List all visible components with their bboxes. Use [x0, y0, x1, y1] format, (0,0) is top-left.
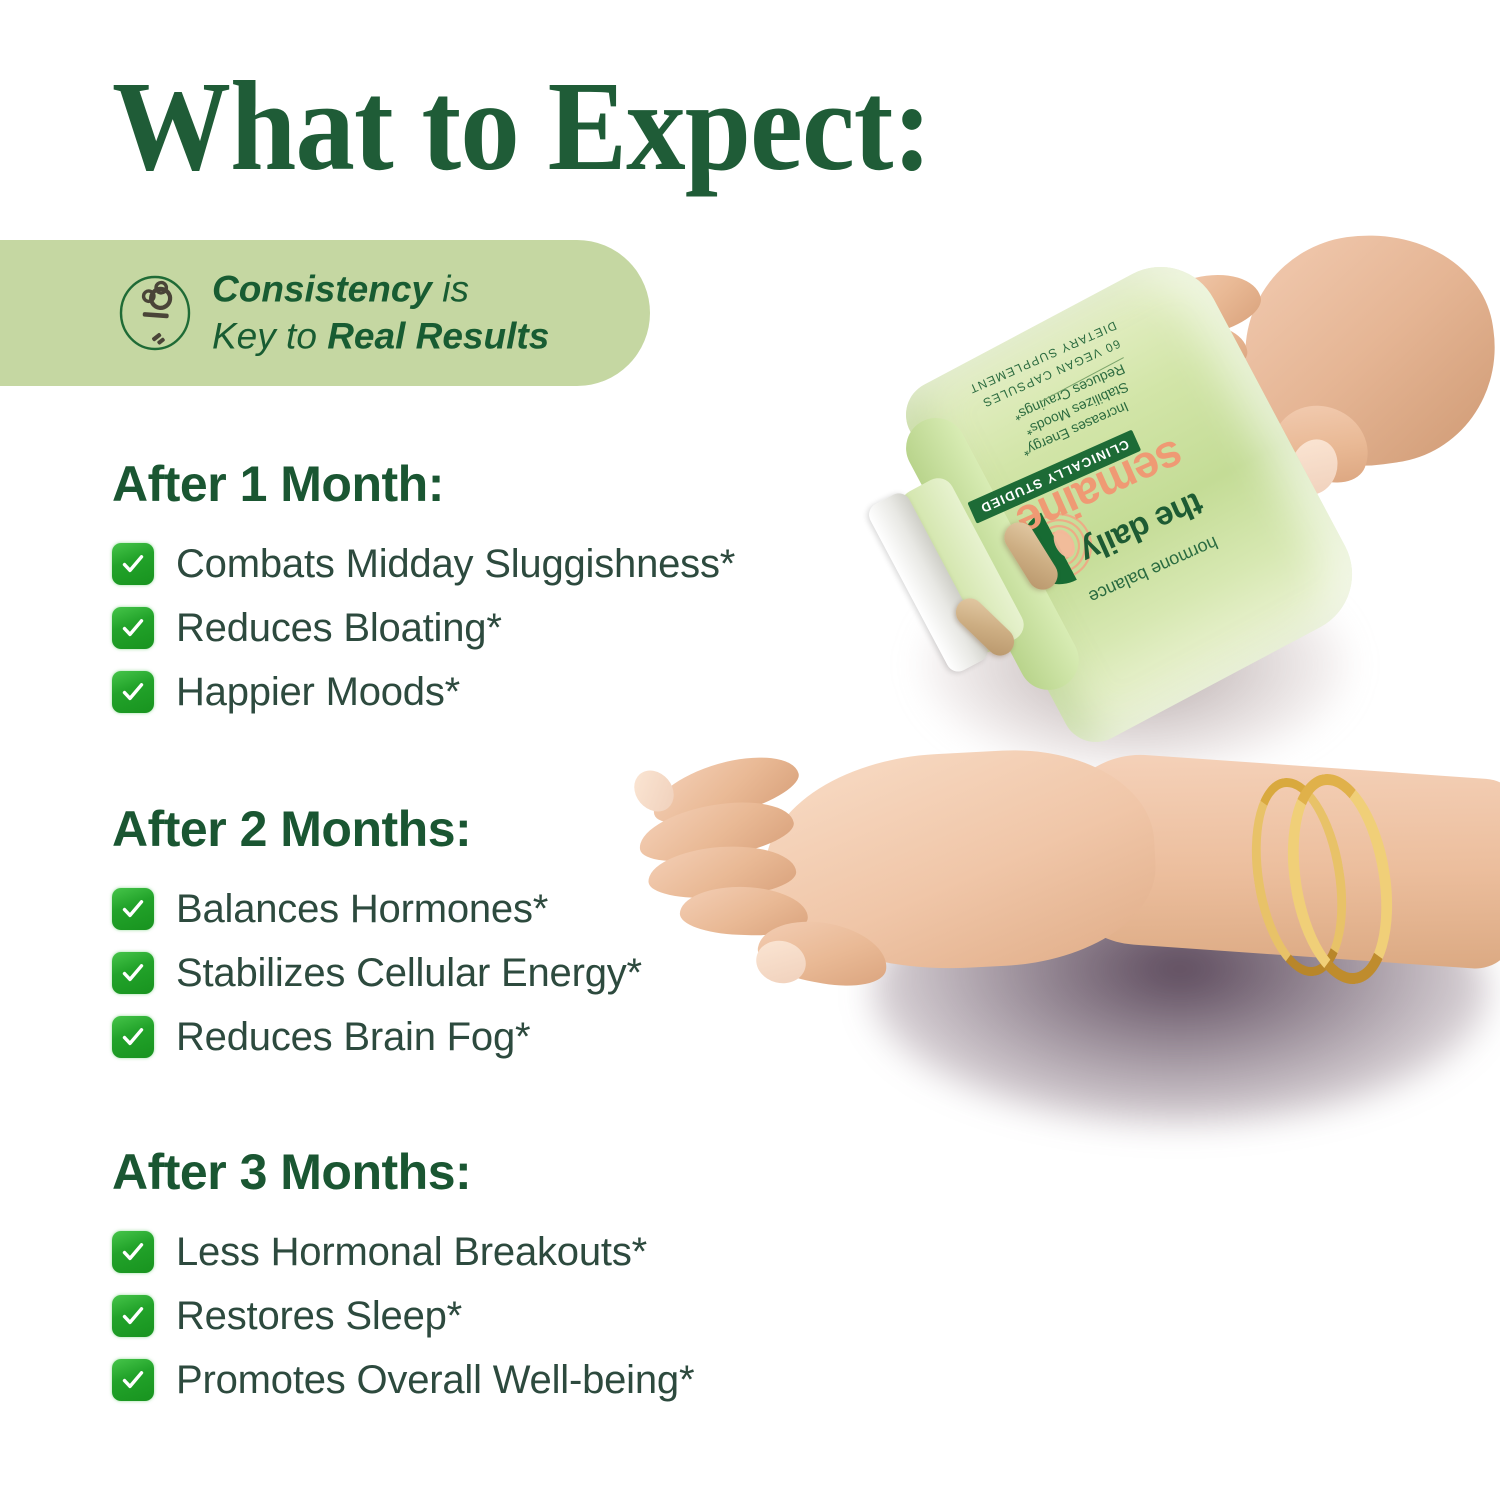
page-title: What to Expect:: [112, 62, 931, 190]
section-month-2: After 2 Months: Balances Hormones* Stabi…: [112, 800, 642, 1076]
list-item-label: Reduces Brain Fog*: [176, 1015, 530, 1060]
product-photograph: semaine the daily hormone balance CLINIC…: [590, 225, 1500, 1310]
list-item-label: Promotes Overall Well-being*: [176, 1358, 694, 1403]
banner-line2-bold: Real Results: [327, 316, 549, 357]
consistency-banner: Consistency is Key to Real Results: [0, 240, 650, 386]
lower-hand: [590, 705, 1500, 1225]
banner-line1-rest: is: [432, 269, 469, 310]
check-icon: [112, 1231, 154, 1273]
list-item: Reduces Brain Fog*: [112, 1012, 642, 1062]
check-icon: [112, 607, 154, 649]
list-item: Promotes Overall Well-being*: [112, 1355, 694, 1405]
list-item-label: Stabilizes Cellular Energy*: [176, 951, 642, 996]
check-icon: [112, 543, 154, 585]
check-icon: [112, 1295, 154, 1337]
check-icon: [112, 952, 154, 994]
list-item: Stabilizes Cellular Energy*: [112, 948, 642, 998]
check-icon: [112, 1359, 154, 1401]
list-item-label: Balances Hormones*: [176, 887, 548, 932]
banner-text: Consistency is Key to Real Results: [212, 266, 549, 361]
check-icon: [112, 671, 154, 713]
list-item-label: Reduces Bloating*: [176, 606, 502, 651]
check-icon: [112, 1016, 154, 1058]
list-item-label: Restores Sleep*: [176, 1294, 462, 1339]
list-item-label: Less Hormonal Breakouts*: [176, 1230, 647, 1275]
banner-line1-bold: Consistency: [212, 269, 432, 310]
check-icon: [112, 888, 154, 930]
benefit-list: Balances Hormones* Stabilizes Cellular E…: [112, 884, 642, 1062]
key-icon: [118, 274, 192, 352]
infographic-canvas: What to Expect: Consistency is Key: [0, 0, 1500, 1500]
section-heading: After 2 Months:: [112, 800, 642, 858]
banner-line2-rest: Key to: [212, 316, 327, 357]
list-item-label: Happier Moods*: [176, 670, 460, 715]
list-item: Balances Hormones*: [112, 884, 642, 934]
